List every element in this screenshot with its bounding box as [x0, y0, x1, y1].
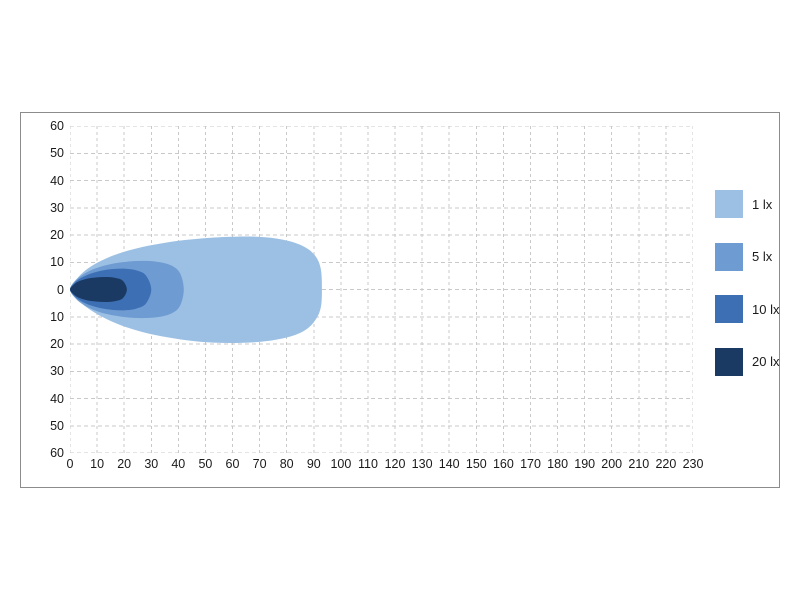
- legend-label: 20 lx: [752, 354, 779, 369]
- x-axis-tick-label: 150: [466, 458, 487, 471]
- legend-label: 1 lx: [752, 197, 772, 212]
- x-axis-tick-label: 160: [493, 458, 514, 471]
- y-axis-tick-label: 60: [28, 120, 64, 133]
- x-axis-tick-label: 80: [280, 458, 294, 471]
- y-axis-tick-label: 50: [28, 147, 64, 160]
- y-axis-tick-label: 20: [28, 229, 64, 242]
- legend: 1 lx5 lx10 lx20 lx: [715, 190, 785, 390]
- legend-item-20-lx: 20 lx: [715, 348, 779, 376]
- x-axis-tick-label: 40: [171, 458, 185, 471]
- x-axis-tick-label: 180: [547, 458, 568, 471]
- x-axis-tick-label: 30: [144, 458, 158, 471]
- light-distribution-diagram: 6050403020100102030405060 01020304050607…: [0, 0, 800, 600]
- x-axis-tick-label: 10: [90, 458, 104, 471]
- beam-contour-plot: [70, 126, 693, 453]
- y-axis-tick-label: 10: [28, 256, 64, 269]
- legend-swatch: [715, 348, 743, 376]
- x-axis-tick-label: 130: [412, 458, 433, 471]
- x-axis-tick-label: 210: [628, 458, 649, 471]
- x-axis-tick-label: 70: [253, 458, 267, 471]
- y-axis-tick-label: 30: [28, 365, 64, 378]
- y-axis-tick-label: 30: [28, 202, 64, 215]
- legend-label: 10 lx: [752, 302, 779, 317]
- x-axis-tick-label: 220: [655, 458, 676, 471]
- y-axis-tick-label: 20: [28, 338, 64, 351]
- x-axis-tick-label: 230: [683, 458, 704, 471]
- plot-area: [70, 126, 693, 453]
- x-axis-tick-label: 0: [67, 458, 74, 471]
- x-axis-tick-label: 170: [520, 458, 541, 471]
- legend-item-5-lx: 5 lx: [715, 243, 772, 271]
- y-axis-tick-label: 10: [28, 311, 64, 324]
- x-axis-tick-label: 50: [198, 458, 212, 471]
- y-axis-tick-label: 50: [28, 420, 64, 433]
- x-axis-tick-label: 190: [574, 458, 595, 471]
- y-axis-tick-label: 40: [28, 392, 64, 405]
- y-axis-tick-label: 40: [28, 174, 64, 187]
- x-axis-tick-label: 100: [330, 458, 351, 471]
- legend-label: 5 lx: [752, 249, 772, 264]
- x-axis-tick-label: 60: [226, 458, 240, 471]
- x-axis-tick-label: 110: [358, 458, 378, 471]
- y-axis-tick-labels: 6050403020100102030405060: [28, 126, 64, 453]
- legend-swatch: [715, 243, 743, 271]
- x-axis-tick-label: 200: [601, 458, 622, 471]
- legend-item-10-lx: 10 lx: [715, 295, 779, 323]
- y-axis-tick-label: 60: [28, 447, 64, 460]
- x-axis-tick-label: 140: [439, 458, 460, 471]
- x-axis-tick-labels: 0102030405060708090100110120130140150160…: [70, 458, 693, 478]
- x-axis-tick-label: 120: [385, 458, 406, 471]
- legend-swatch: [715, 190, 743, 218]
- x-axis-tick-label: 90: [307, 458, 321, 471]
- legend-item-1-lx: 1 lx: [715, 190, 772, 218]
- legend-swatch: [715, 295, 743, 323]
- x-axis-tick-label: 20: [117, 458, 131, 471]
- y-axis-tick-label: 0: [28, 283, 64, 296]
